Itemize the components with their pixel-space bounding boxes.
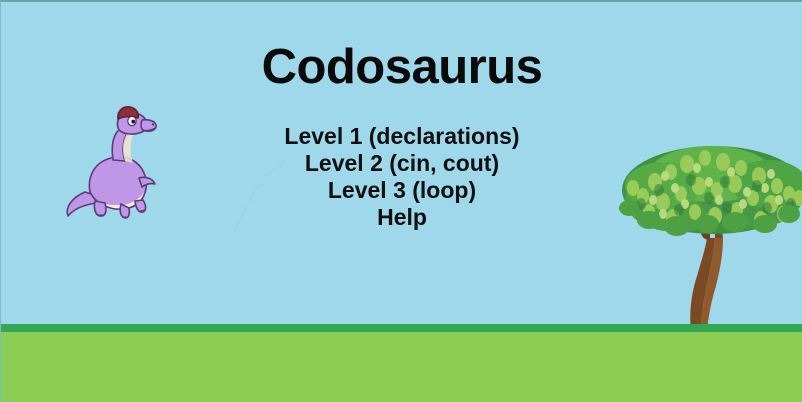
codosaurus-app-window: Codosaurus Level 1 (declarations) Level … bbox=[0, 0, 802, 402]
ground-edge-strip bbox=[1, 324, 802, 332]
main-menu: Level 1 (declarations) Level 2 (cin, cou… bbox=[1, 123, 802, 231]
menu-item-level-2[interactable]: Level 2 (cin, cout) bbox=[1, 150, 802, 177]
menu-item-level-3[interactable]: Level 3 (loop) bbox=[1, 177, 802, 204]
ground-grass bbox=[1, 332, 802, 402]
menu-item-help[interactable]: Help bbox=[1, 204, 802, 231]
page-title: Codosaurus bbox=[1, 42, 802, 93]
menu-item-level-1[interactable]: Level 1 (declarations) bbox=[1, 123, 802, 150]
